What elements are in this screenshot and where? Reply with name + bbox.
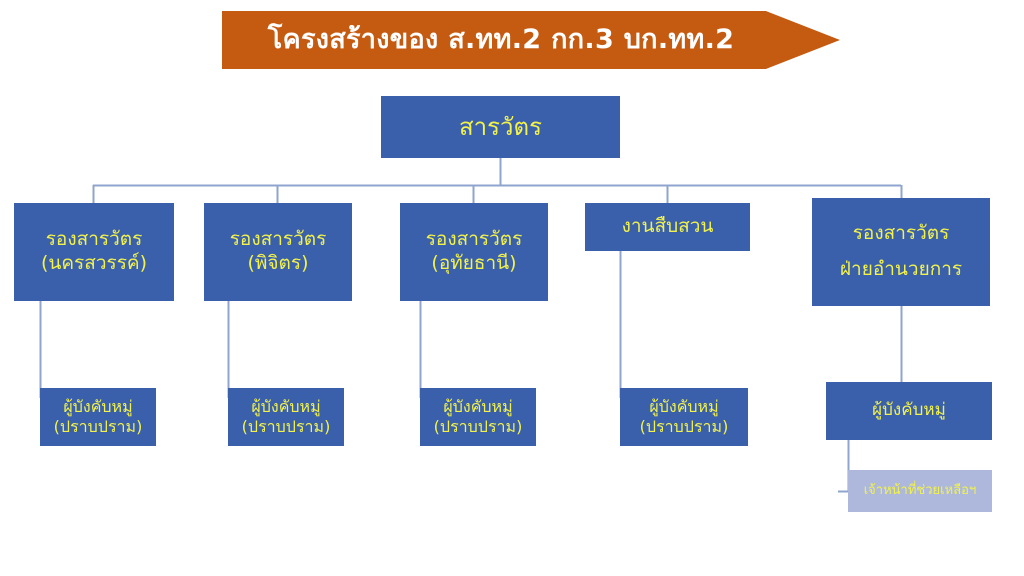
org-node-label-line2: (ปราบปราม) xyxy=(54,417,143,437)
connector-elbow-l3-0 xyxy=(40,301,41,398)
org-node-label: เจ้าหน้าที่ช่วยเหลือฯ xyxy=(864,483,977,499)
org-node-label: สารวัตร xyxy=(459,112,542,142)
org-node-deputy-uthai-thani[interactable]: รองสารวัตร (อุทัยธานี) xyxy=(400,203,548,301)
org-node-label: งานสืบสวน xyxy=(622,215,714,239)
org-node-squad-leader-nakhon-sawan[interactable]: ผู้บังคับหมู่ (ปราบปราม) xyxy=(40,388,156,446)
org-node-deputy-nakhon-sawan[interactable]: รองสารวัตร (นครสวรรค์) xyxy=(14,203,174,301)
org-node-label-line1: รองสารวัตร xyxy=(426,228,523,252)
org-chart-canvas: โครงสร้างของ ส.ทท.2 กก.3 บก.ทท.2 สารวัตร… xyxy=(0,0,1024,576)
org-node-label-line2: (ปราบปราม) xyxy=(242,417,331,437)
org-node-label-line2: (ปราบปราม) xyxy=(640,417,729,437)
org-node-label-line1: ผู้บังคับหมู่ xyxy=(443,397,512,417)
org-node-deputy-administration[interactable]: รองสารวัตร ฝ่ายอำนวยการ xyxy=(812,198,990,306)
chart-title-banner: โครงสร้างของ ส.ทท.2 กก.3 บก.ทท.2 xyxy=(222,11,840,69)
org-node-label-line2: (นครสวรรค์) xyxy=(41,252,147,276)
page-title: โครงสร้างของ ส.ทท.2 กก.3 บก.ทท.2 xyxy=(268,25,734,55)
org-node-label: ผู้บังคับหมู่ xyxy=(872,400,946,421)
org-node-deputy-phichit[interactable]: รองสารวัตร (พิจิตร) xyxy=(204,203,352,301)
org-node-squad-leader-investigation[interactable]: ผู้บังคับหมู่ (ปราบปราม) xyxy=(620,388,748,446)
org-node-label-line2: (อุทัยธานี) xyxy=(431,252,516,276)
org-node-label-line2: (พิจิตร) xyxy=(247,252,308,276)
org-node-label-line1: ผู้บังคับหมู่ xyxy=(649,397,718,417)
org-node-sarawat[interactable]: สารวัตร xyxy=(381,96,620,158)
org-node-squad-leader-administration[interactable]: ผู้บังคับหมู่ xyxy=(826,382,992,440)
org-node-label-line1: รองสารวัตร xyxy=(46,228,143,252)
org-node-label-line1: รองสารวัตร xyxy=(853,216,950,252)
org-node-label-line1: ผู้บังคับหมู่ xyxy=(63,397,132,417)
org-node-label-line2: (ปราบปราม) xyxy=(434,417,523,437)
org-node-squad-leader-phichit[interactable]: ผู้บังคับหมู่ (ปราบปราม) xyxy=(228,388,344,446)
org-node-support-officer[interactable]: เจ้าหน้าที่ช่วยเหลือฯ xyxy=(848,470,992,512)
org-node-investigation-unit[interactable]: งานสืบสวน xyxy=(585,203,750,251)
org-node-label-line1: รองสารวัตร xyxy=(230,228,327,252)
org-node-label-line1: ผู้บังคับหมู่ xyxy=(251,397,320,417)
org-node-label-line2: ฝ่ายอำนวยการ xyxy=(840,252,962,288)
org-node-squad-leader-uthai-thani[interactable]: ผู้บังคับหมู่ (ปราบปราม) xyxy=(420,388,536,446)
